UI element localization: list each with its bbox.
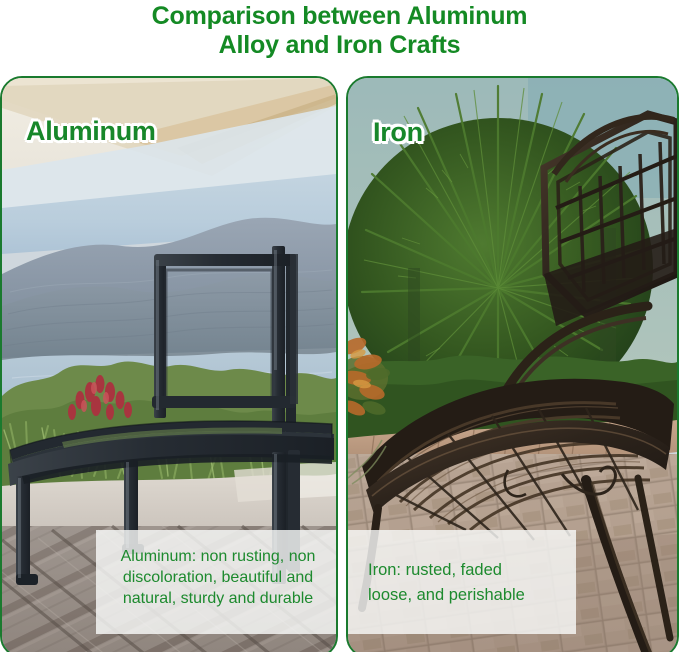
caption-iron-line-1: Iron: rusted, faded [368, 558, 576, 583]
caption-iron-line-2: loose, and perishable [368, 583, 576, 608]
caption-aluminum-line-2: discoloration, beautiful and [102, 567, 334, 588]
panel-iron: Iron Iron: rusted, faded loose, and peri… [346, 76, 679, 652]
panel-label-iron: Iron [373, 117, 423, 148]
page-title-line-2: Alloy and Iron Crafts [0, 31, 679, 60]
page-title-line-1: Comparison between Aluminum [0, 2, 679, 31]
panel-label-aluminum: Aluminum [26, 116, 156, 147]
comparison-infographic: Comparison between Aluminum Alloy and Ir… [0, 0, 679, 652]
page-title: Comparison between Aluminum Alloy and Ir… [0, 2, 679, 60]
panel-aluminum: Aluminum Aluminum: non rusting, non disc… [0, 76, 338, 652]
caption-aluminum-line-1: Aluminum: non rusting, non [102, 546, 334, 567]
caption-aluminum-line-3: natural, sturdy and durable [102, 588, 334, 609]
caption-aluminum: Aluminum: non rusting, non discoloration… [96, 530, 338, 634]
caption-iron: Iron: rusted, faded loose, and perishabl… [348, 530, 576, 634]
